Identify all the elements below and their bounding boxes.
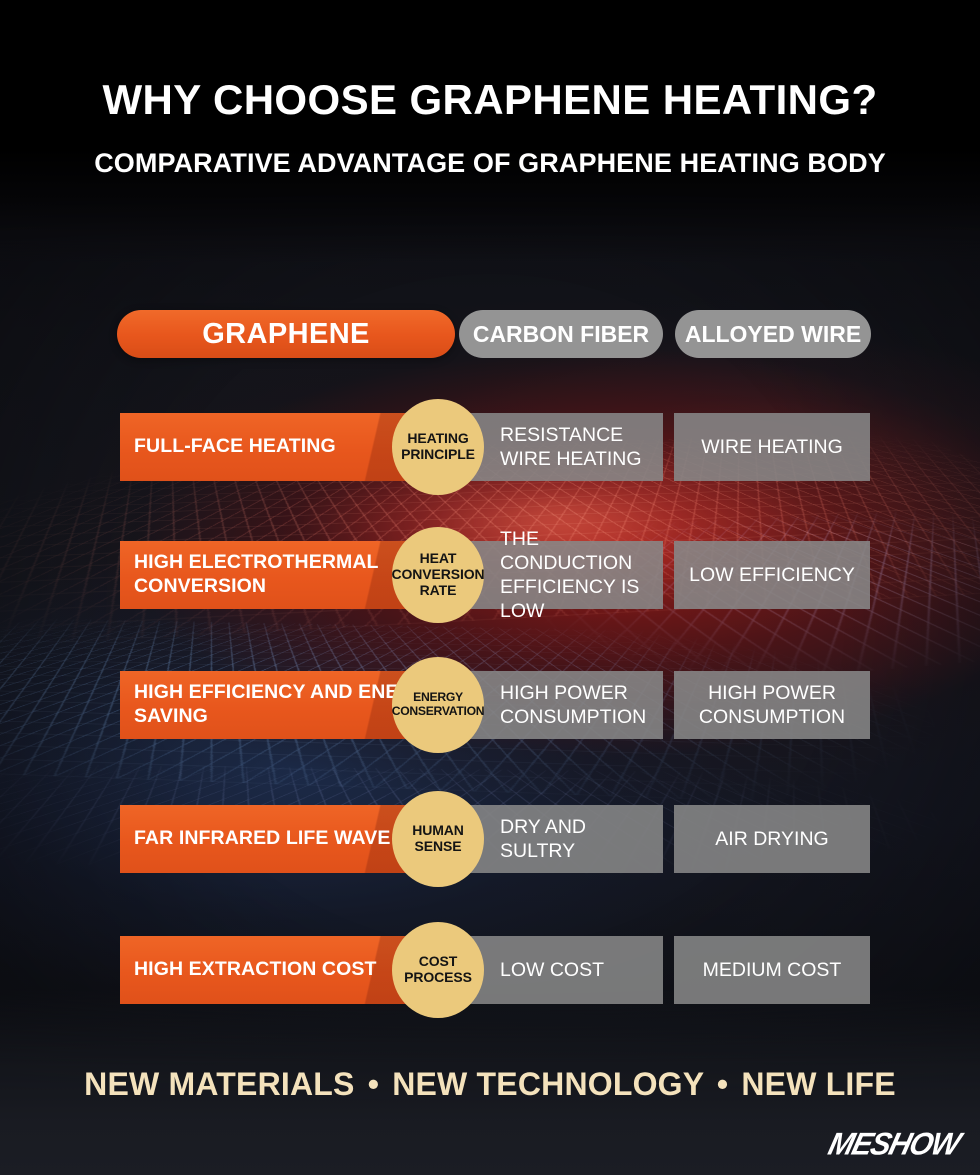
- cell-text: THE CONDUCTION EFFICIENCY IS LOW: [500, 527, 663, 624]
- tagline-part-1: NEW MATERIALS: [84, 1066, 354, 1102]
- cell-alloyed-wire: AIR DRYING: [674, 805, 870, 873]
- tagline-part-3: NEW LIFE: [741, 1066, 895, 1102]
- brand-logo: MESHOW: [824, 1127, 962, 1163]
- cell-text: LOW EFFICIENCY: [689, 563, 855, 587]
- cell-text: RESISTANCE WIRE HEATING: [500, 423, 663, 471]
- table-row: WIRE HEATING RESISTANCE WIRE HEATING FUL…: [0, 413, 980, 481]
- table-row: AIR DRYING DRY AND SULTRY FAR INFRARED L…: [0, 805, 980, 873]
- criterion-badge-label: HEATCONVERSIONRATE: [390, 551, 485, 598]
- cell-alloyed-wire: HIGH POWER CONSUMPTION: [674, 671, 870, 739]
- comparison-table: WIRE HEATING RESISTANCE WIRE HEATING FUL…: [0, 0, 980, 1175]
- criterion-badge-label: ENERGYCONSERVATION: [391, 691, 486, 718]
- criterion-badge: HUMANSENSE: [392, 791, 484, 887]
- cell-alloyed-wire: WIRE HEATING: [674, 413, 870, 481]
- cell-text: FULL-FACE HEATING: [134, 435, 336, 459]
- criterion-badge: HEATCONVERSIONRATE: [392, 527, 484, 623]
- cell-text: HIGH POWER CONSUMPTION: [684, 681, 860, 729]
- footer-tagline: NEW MATERIALS • NEW TECHNOLOGY • NEW LIF…: [0, 1066, 980, 1103]
- cell-alloyed-wire: MEDIUM COST: [674, 936, 870, 1004]
- criterion-badge: COSTPROCESS: [392, 922, 484, 1018]
- cell-text: AIR DRYING: [715, 827, 828, 851]
- cell-text: WIRE HEATING: [701, 435, 843, 459]
- criterion-badge-label: COSTPROCESS: [403, 954, 473, 985]
- criterion-badge: HEATINGPRINCIPLE: [392, 399, 484, 495]
- table-row: MEDIUM COST LOW COST HIGH EXTRACTION COS…: [0, 936, 980, 1004]
- criterion-badge-label: HEATINGPRINCIPLE: [400, 431, 476, 462]
- cell-text: LOW COST: [500, 958, 604, 982]
- tagline-part-2: NEW TECHNOLOGY: [392, 1066, 704, 1102]
- cell-text: DRY AND SULTRY: [500, 815, 663, 863]
- cell-text: MEDIUM COST: [703, 958, 842, 982]
- infographic-poster: WHY CHOOSE GRAPHENE HEATING? COMPARATIVE…: [0, 0, 980, 1175]
- cell-text: HIGH POWER CONSUMPTION: [500, 681, 663, 729]
- table-row: HIGH POWER CONSUMPTION HIGH POWER CONSUM…: [0, 671, 980, 739]
- cell-text: HIGH EXTRACTION COST: [134, 958, 377, 982]
- cell-alloyed-wire: LOW EFFICIENCY: [674, 541, 870, 609]
- criterion-badge: ENERGYCONSERVATION: [392, 657, 484, 753]
- table-row: LOW EFFICIENCY THE CONDUCTION EFFICIENCY…: [0, 541, 980, 609]
- tagline-separator-1: •: [364, 1066, 383, 1102]
- cell-text: FAR INFRARED LIFE WAVE: [134, 827, 390, 851]
- tagline-separator-2: •: [713, 1066, 732, 1102]
- criterion-badge-label: HUMANSENSE: [411, 823, 465, 854]
